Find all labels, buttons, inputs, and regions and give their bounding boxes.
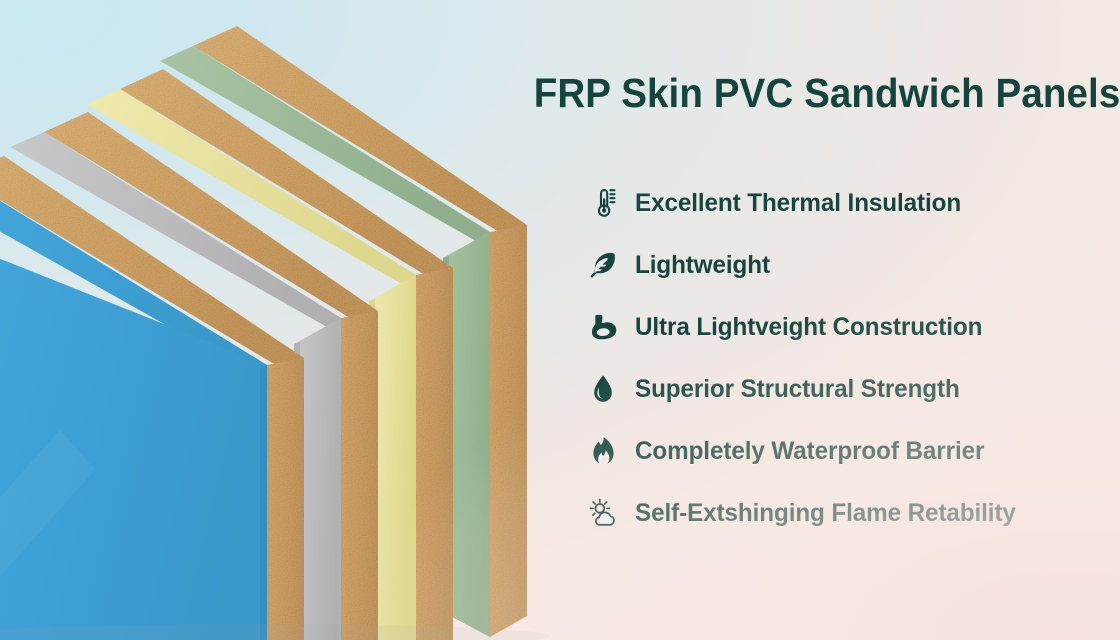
- feature-item: Completely Waterproof Barrier: [583, 431, 1120, 471]
- feature-list: Excellent Thermal Insulation Lightweight: [583, 183, 1120, 555]
- feature-label: Ultra Lightveight Construction: [635, 313, 982, 342]
- feature-item: Lightweight: [583, 245, 1120, 285]
- sun-cloud-icon: [583, 496, 623, 530]
- feature-item: Superior Structural Strength: [583, 369, 1120, 409]
- muscle-arm-icon: [583, 310, 623, 344]
- water-drop-icon: [583, 372, 623, 406]
- feature-item: Self-Extshinging Flame Retability: [583, 493, 1120, 533]
- feature-label: Superior Structural Strength: [635, 375, 960, 404]
- thermometer-icon: [583, 186, 623, 220]
- feather-icon: [583, 248, 623, 282]
- feature-item: Ultra Lightveight Construction: [583, 307, 1120, 347]
- promo-graphic: FRP Skin PVC Sandwich Panels Excellent T…: [0, 0, 1120, 640]
- page-title: FRP Skin PVC Sandwich Panels: [448, 68, 1120, 118]
- flame-icon: [583, 434, 623, 468]
- feature-label: Lightweight: [635, 251, 770, 280]
- feature-label: Self-Extshinging Flame Retability: [635, 499, 1016, 528]
- content-column: FRP Skin PVC Sandwich Panels Excellent T…: [405, 0, 1120, 640]
- feature-label: Excellent Thermal Insulation: [635, 189, 961, 218]
- feature-item: Excellent Thermal Insulation: [583, 183, 1120, 223]
- feature-label: Completely Waterproof Barrier: [635, 437, 984, 466]
